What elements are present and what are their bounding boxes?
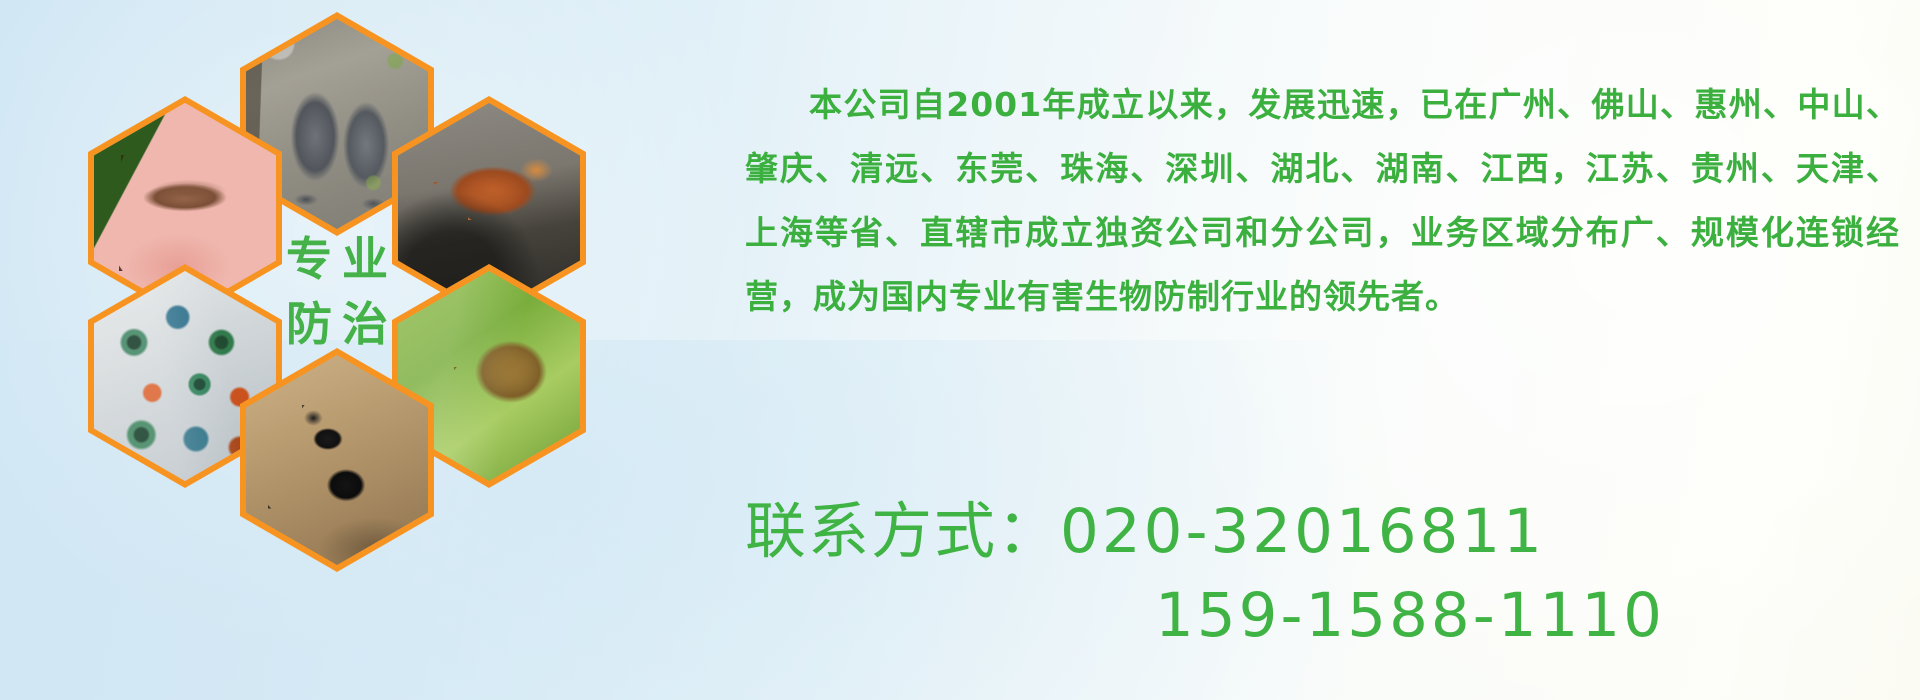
pest-control-banner: 专业 防治 本公司自2001年成立以来，发展迅速，已在广州、佛山、惠州、中山、肇… xyxy=(0,0,1920,700)
honeycomb-center-label: 专业 防治 xyxy=(246,187,428,397)
company-introduction-paragraph: 本公司自2001年成立以来，发展迅速，已在广州、佛山、惠州、中山、肇庆、清远、东… xyxy=(745,73,1900,329)
phone-secondary[interactable]: 159-1588-1110 xyxy=(745,574,1905,658)
contact-block: 联系方式：020-32016811 159-1588-1110 xyxy=(745,490,1905,658)
company-copy-block: 本公司自2001年成立以来，发展迅速，已在广州、佛山、惠州、中山、肇庆、清远、东… xyxy=(745,40,1900,362)
honeycomb-image-cluster: 专业 防治 xyxy=(88,12,588,582)
center-label-line-2: 防治 xyxy=(276,296,398,354)
center-label-line-1: 专业 xyxy=(276,231,398,289)
phone-primary[interactable]: 020-32016811 xyxy=(1060,496,1545,567)
contact-line-primary: 联系方式：020-32016811 xyxy=(745,490,1905,574)
contact-label: 联系方式： xyxy=(745,496,1060,567)
